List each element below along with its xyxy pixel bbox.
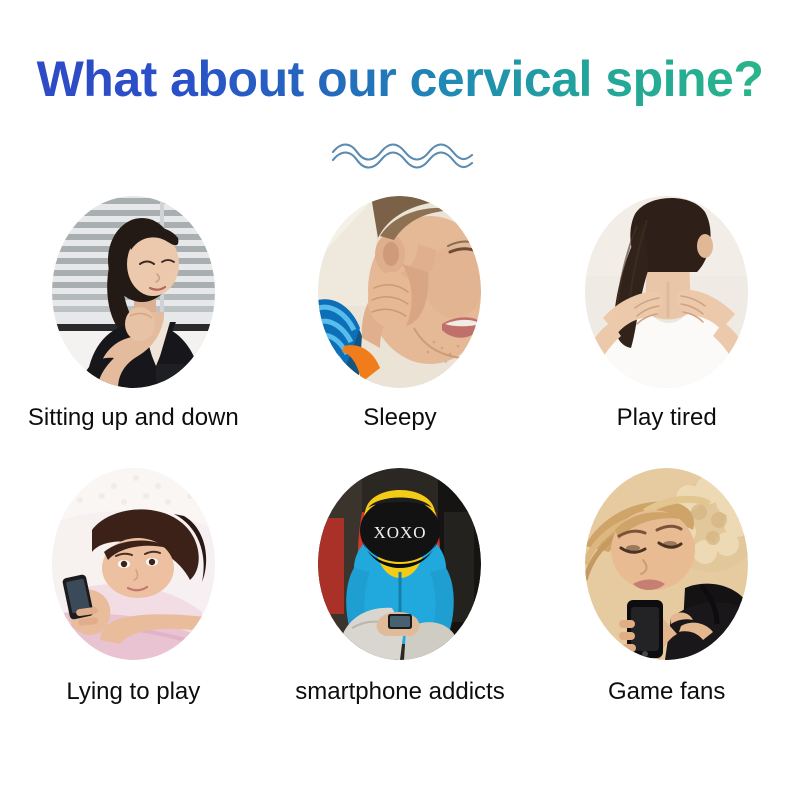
card-lying-to-play: Lying to play bbox=[0, 468, 267, 740]
card-sitting-up-and-down: Sitting up and down bbox=[0, 196, 267, 468]
card-caption: Sitting up and down bbox=[28, 404, 239, 432]
photo-play-tired bbox=[585, 196, 748, 388]
card-caption: Play tired bbox=[617, 404, 717, 432]
card-caption: smartphone addicts bbox=[295, 678, 504, 706]
photo-sitting-up-and-down bbox=[52, 196, 215, 388]
photo-lying-to-play bbox=[52, 468, 215, 660]
wavy-lines-icon bbox=[330, 138, 475, 172]
infographic-poster: What about our cervical spine? bbox=[0, 0, 800, 800]
cap-text: XOXO bbox=[374, 523, 427, 542]
card-grid: Sitting up and down bbox=[0, 196, 800, 740]
photo-smartphone-addicts: XOXO bbox=[318, 468, 481, 660]
photo-sleepy bbox=[318, 196, 481, 388]
card-caption: Game fans bbox=[608, 678, 725, 706]
card-caption: Sleepy bbox=[363, 404, 436, 432]
photo-game-fans bbox=[585, 468, 748, 660]
card-caption: Lying to play bbox=[66, 678, 200, 706]
card-smartphone-addicts: XOXO smartphone addicts bbox=[267, 468, 534, 740]
card-game-fans: Game fans bbox=[533, 468, 800, 740]
card-play-tired: Play tired bbox=[533, 196, 800, 468]
page-title: What about our cervical spine? bbox=[0, 52, 800, 106]
card-sleepy: Sleepy bbox=[267, 196, 534, 468]
